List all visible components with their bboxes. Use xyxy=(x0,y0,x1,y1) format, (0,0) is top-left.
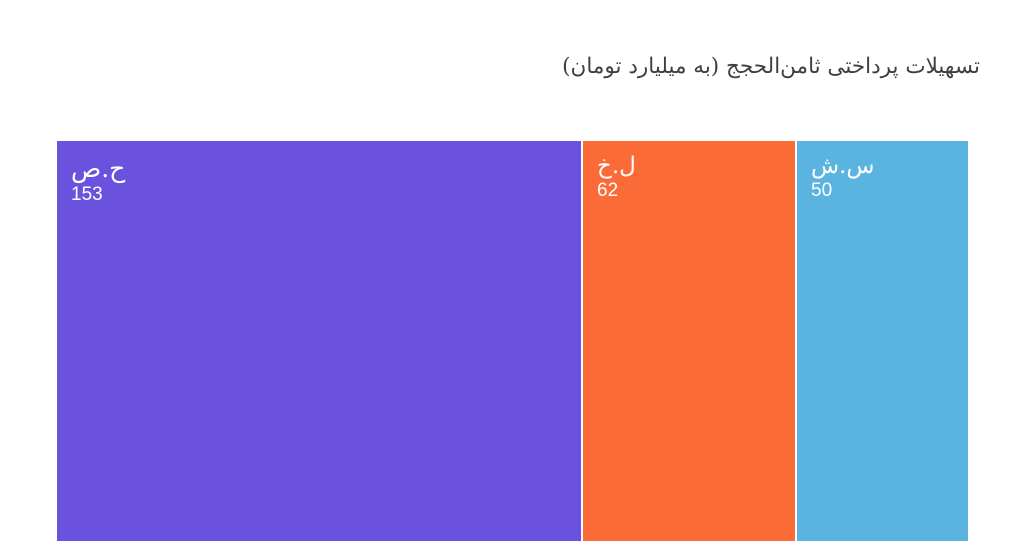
treemap-tile-lkh[interactable]: ل.خ 62 xyxy=(583,141,795,541)
treemap-tile-content: ل.خ 62 xyxy=(583,141,795,541)
treemap-tile-hs[interactable]: ح.ص 153 xyxy=(57,141,581,541)
treemap-tile-value: 50 xyxy=(811,179,954,202)
treemap-tile-content: ح.ص 153 xyxy=(57,141,581,541)
treemap-tile-content: س.ش 50 xyxy=(797,141,968,541)
treemap-plot-area: ح.ص 153 ل.خ 62 س.ش 50 xyxy=(57,141,968,541)
chart-title: تسهیلات پرداختی ثامن‌الحجج (به میلیارد ت… xyxy=(40,52,980,82)
treemap-tile-ssh[interactable]: س.ش 50 xyxy=(797,141,968,541)
treemap-tile-label: ل.خ xyxy=(597,153,781,179)
treemap-figure: تسهیلات پرداختی ثامن‌الحجج (به میلیارد ت… xyxy=(0,0,1024,512)
treemap-tile-label: ح.ص xyxy=(71,155,567,183)
treemap-tile-value: 62 xyxy=(597,179,781,202)
treemap-tile-label: س.ش xyxy=(811,153,954,179)
treemap-tile-value: 153 xyxy=(71,183,567,206)
